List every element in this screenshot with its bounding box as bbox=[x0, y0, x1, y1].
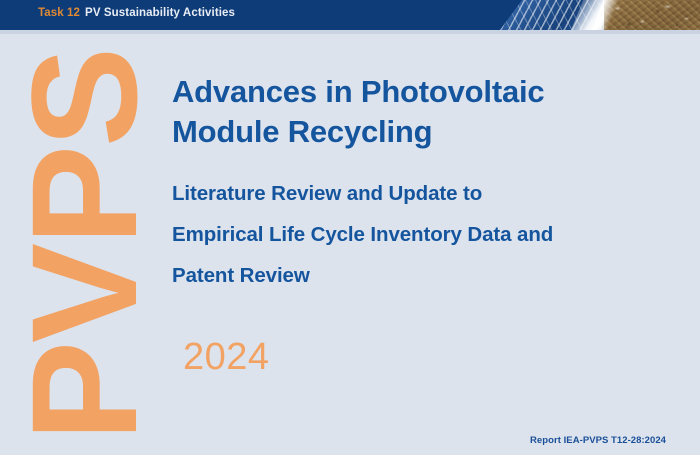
header-task-number: Task 12 bbox=[38, 7, 80, 19]
header-task-label-group: Task 12PV Sustainability Activities bbox=[38, 7, 235, 19]
page-subtitle-line-1: Literature Review and Update to bbox=[172, 173, 684, 214]
page-subtitle-line-2: Empirical Life Cycle Inventory Data and bbox=[172, 214, 684, 255]
header-task-title: PV Sustainability Activities bbox=[85, 7, 235, 19]
page-subtitle: Literature Review and Update to Empirica… bbox=[172, 173, 684, 296]
page-title-line-1: Advances in Photovoltaic bbox=[172, 72, 684, 112]
page-title: Advances in Photovoltaic Module Recyclin… bbox=[172, 72, 684, 151]
cover-photo-strip bbox=[500, 0, 700, 30]
report-cover-page: Task 12PV Sustainability Activities PVPS… bbox=[0, 0, 700, 455]
publication-year: 2024 bbox=[183, 336, 270, 379]
pvps-watermark-text: PVPS bbox=[9, 48, 159, 440]
title-block: Advances in Photovoltaic Module Recyclin… bbox=[172, 72, 684, 296]
report-number: Report IEA-PVPS T12-28:2024 bbox=[530, 435, 666, 446]
header-underline-strip bbox=[0, 30, 700, 34]
page-title-line-2: Module Recycling bbox=[172, 112, 684, 152]
page-subtitle-line-3: Patent Review bbox=[172, 255, 684, 296]
pvps-watermark: PVPS bbox=[0, 34, 168, 455]
